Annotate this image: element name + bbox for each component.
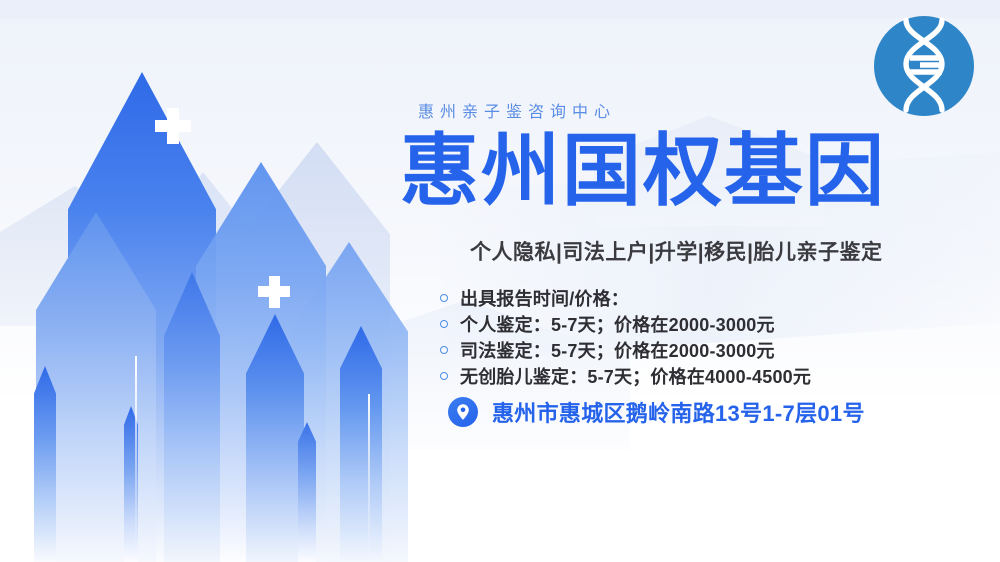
- address-block: 惠州市惠城区鹅岭南路13号1-7层01号: [448, 396, 865, 428]
- building-tower-short: [298, 422, 316, 562]
- medical-cross-icon: [258, 286, 290, 297]
- building-slim-center: [164, 272, 220, 562]
- banner-content: 惠州亲子鉴咨询中心 惠州国权基因 个人隐私|司法上户|升学|移民|胎儿亲子鉴定 …: [396, 0, 996, 562]
- bullet-circle-icon: [440, 320, 448, 328]
- building-antenna-b: [368, 394, 370, 562]
- bullet-circle-icon: [440, 294, 448, 302]
- list-item: 出具报告时间/价格：: [440, 286, 811, 309]
- bullet-circle-icon: [440, 372, 448, 380]
- list-item-label: 无创胎儿鉴定：5-7天；价格在4000-4500元: [460, 363, 811, 389]
- price-list: 出具报告时间/价格： 个人鉴定：5-7天；价格在2000-3000元 司法鉴定：…: [440, 286, 811, 390]
- building-slim-right: [246, 314, 304, 562]
- list-item-label: 个人鉴定：5-7天；价格在2000-3000元: [460, 311, 775, 337]
- list-item: 司法鉴定：5-7天；价格在2000-3000元: [440, 338, 811, 361]
- medical-cross-icon: [155, 120, 191, 132]
- building-antenna-a: [135, 356, 137, 562]
- list-item: 无创胎儿鉴定：5-7天；价格在4000-4500元: [440, 364, 811, 387]
- building-tower-far-right: [340, 326, 382, 562]
- banner-eyebrow: 惠州亲子鉴咨询中心: [418, 98, 616, 122]
- bullet-circle-icon: [440, 346, 448, 354]
- location-pin-icon: [448, 397, 478, 427]
- page-title: 惠州国权基因: [400, 128, 886, 214]
- address-text: 惠州市惠城区鹅岭南路13号1-7层01号: [492, 396, 865, 428]
- list-item-label: 司法鉴定：5-7天；价格在2000-3000元: [460, 337, 775, 363]
- service-tagline: 个人隐私|司法上户|升学|移民|胎儿亲子鉴定: [470, 236, 883, 266]
- clinic-promo-banner: 惠州亲子鉴咨询中心 惠州国权基因 个人隐私|司法上户|升学|移民|胎儿亲子鉴定 …: [0, 0, 1000, 562]
- building-tower-left: [34, 366, 56, 562]
- list-item-label: 出具报告时间/价格：: [460, 285, 629, 311]
- list-item: 个人鉴定：5-7天；价格在2000-3000元: [440, 312, 811, 335]
